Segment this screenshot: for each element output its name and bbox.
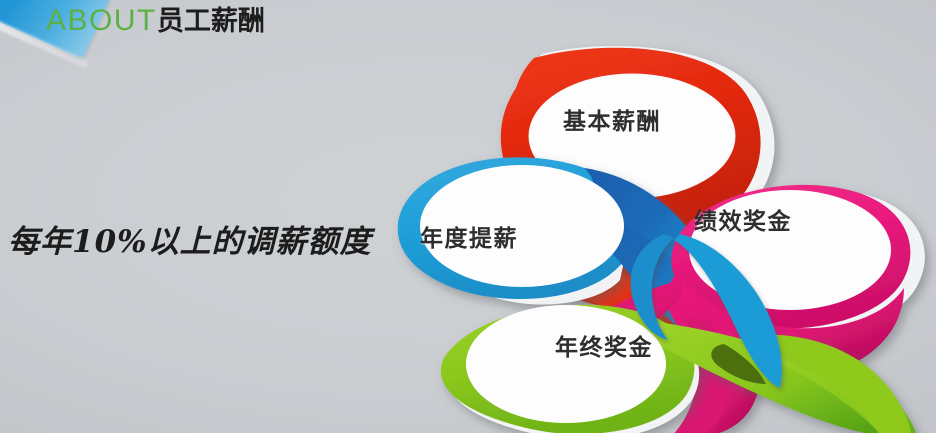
salary-structure-diagram: 基本薪酬 年度提薪 绩效奖金 年终奖金 bbox=[358, 44, 936, 433]
page-title-english: ABOUT bbox=[46, 4, 157, 37]
page-title-chinese: 员工薪酬 bbox=[157, 6, 265, 37]
page-title: ABOUT员工薪酬 bbox=[46, 6, 265, 36]
lead-statement-text: 每年10%以上的调薪额度 bbox=[8, 216, 372, 261]
slide-canvas: ABOUT员工薪酬 每年10%以上的调薪额度 bbox=[0, 0, 936, 433]
